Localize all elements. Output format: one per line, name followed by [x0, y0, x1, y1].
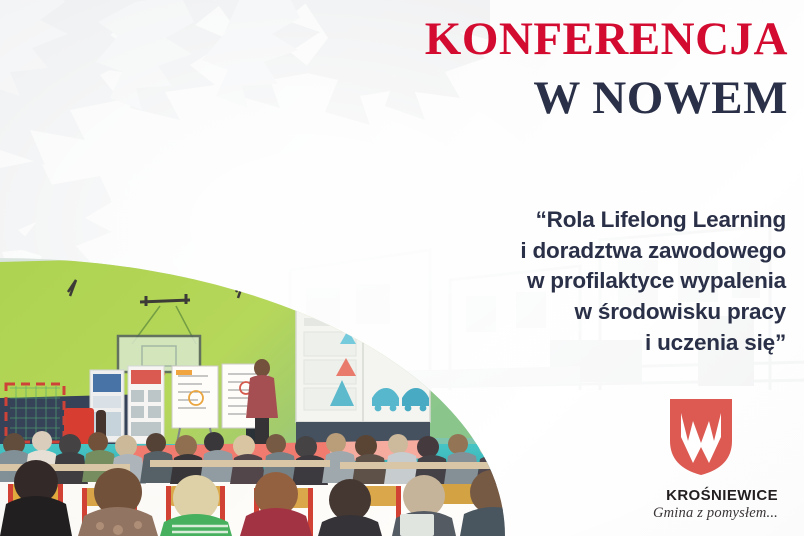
municipality-tagline: Gmina z pomysłem...	[576, 505, 786, 522]
poster-headline: KONFERENCJA W NOWEM	[188, 16, 788, 122]
subtitle-line-2: i doradztwa zawodowego	[316, 236, 786, 267]
headline-line-1: KONFERENCJA	[188, 16, 788, 63]
coat-of-arms-shield-icon	[668, 397, 734, 477]
subtitle-line-3: w profilaktyce wypalenia	[316, 266, 786, 297]
municipality-name: KROŚNIEWICE	[576, 487, 786, 504]
headline-line-2: W NOWEM	[188, 75, 788, 122]
conference-poster: KONFERENCJA W NOWEM “Rola Lifelong Learn…	[0, 0, 804, 536]
subtitle-line-4: w środowisku pracy	[316, 297, 786, 328]
subtitle-line-1: “Rola Lifelong Learning	[316, 205, 786, 236]
municipality-logo: KROŚNIEWICE Gmina z pomysłem...	[576, 397, 786, 522]
subtitle-line-5: i uczenia się”	[316, 328, 786, 359]
conference-topic-quote: “Rola Lifelong Learning i doradztwa zawo…	[316, 205, 786, 359]
